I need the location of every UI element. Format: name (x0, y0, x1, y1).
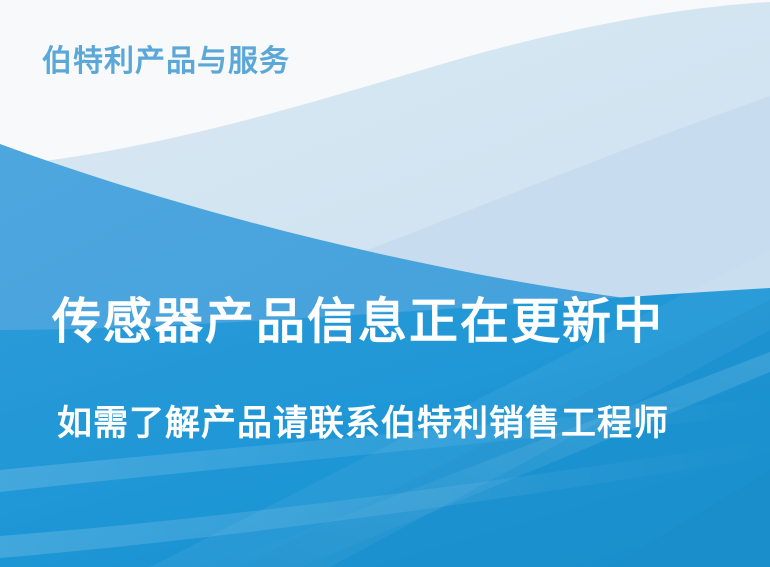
subheadline-text: 如需了解产品请联系伯特利销售工程师 (57, 406, 669, 441)
brand-title: 伯特利产品与服务 (42, 47, 290, 77)
text-layer: 伯特利产品与服务 传感器产品信息正在更新中 如需了解产品请联系伯特利销售工程师 (0, 0, 770, 567)
headline-text: 传感器产品信息正在更新中 (52, 298, 664, 347)
promo-banner: 伯特利产品与服务 传感器产品信息正在更新中 如需了解产品请联系伯特利销售工程师 (0, 0, 770, 567)
